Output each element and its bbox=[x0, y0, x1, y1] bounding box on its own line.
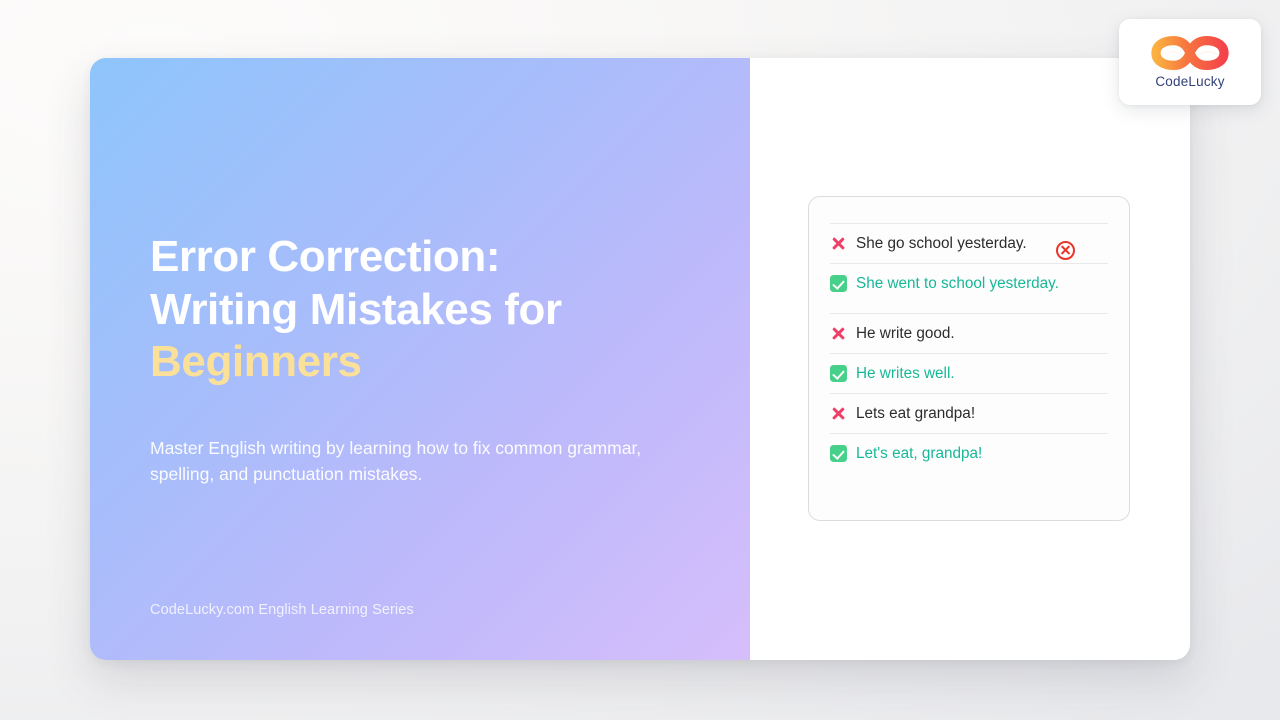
subtitle-text: Master English writing by learning how t… bbox=[150, 436, 670, 486]
infinity-leaf-logo-icon bbox=[1151, 36, 1229, 70]
list-item: She went to school yesterday. bbox=[830, 263, 1108, 303]
slide-right-panel: She go school yesterday. She went to sch… bbox=[750, 58, 1190, 660]
brand-name-label: CodeLucky bbox=[1155, 74, 1224, 89]
list-item: He write good. bbox=[830, 313, 1108, 353]
examples-list: She go school yesterday. She went to sch… bbox=[809, 223, 1129, 473]
corrected-sentence-text: Let's eat, grandpa! bbox=[856, 445, 982, 463]
red-cross-icon bbox=[830, 235, 847, 252]
incorrect-sentence-text: He write good. bbox=[856, 325, 955, 343]
examples-card: She go school yesterday. She went to sch… bbox=[808, 196, 1130, 521]
red-cross-icon bbox=[830, 405, 847, 422]
circled-x-error-icon bbox=[1056, 241, 1075, 260]
green-check-icon bbox=[830, 445, 847, 462]
green-check-icon bbox=[830, 275, 847, 292]
green-check-icon bbox=[830, 365, 847, 382]
incorrect-sentence-text: She go school yesterday. bbox=[856, 235, 1027, 253]
list-item: He writes well. bbox=[830, 353, 1108, 393]
slide-card: Error Correction: Writing Mistakes for B… bbox=[90, 58, 1190, 660]
incorrect-sentence-text: Lets eat grandpa! bbox=[856, 405, 975, 423]
headline-accent-line: Beginners bbox=[150, 336, 690, 388]
headline-line-1: Error Correction: bbox=[150, 231, 690, 283]
page-title: Error Correction: Writing Mistakes for B… bbox=[150, 231, 690, 388]
slide-left-gradient-panel: Error Correction: Writing Mistakes for B… bbox=[90, 58, 750, 660]
headline-line-2: Writing Mistakes for bbox=[150, 284, 690, 336]
brand-badge[interactable]: CodeLucky bbox=[1119, 19, 1261, 105]
red-cross-icon bbox=[830, 325, 847, 342]
corrected-sentence-text: She went to school yesterday. bbox=[856, 275, 1059, 293]
footer-attribution: CodeLucky.com English Learning Series bbox=[150, 602, 414, 618]
list-item: Let's eat, grandpa! bbox=[830, 433, 1108, 473]
list-item: Lets eat grandpa! bbox=[830, 393, 1108, 433]
corrected-sentence-text: He writes well. bbox=[856, 365, 955, 383]
